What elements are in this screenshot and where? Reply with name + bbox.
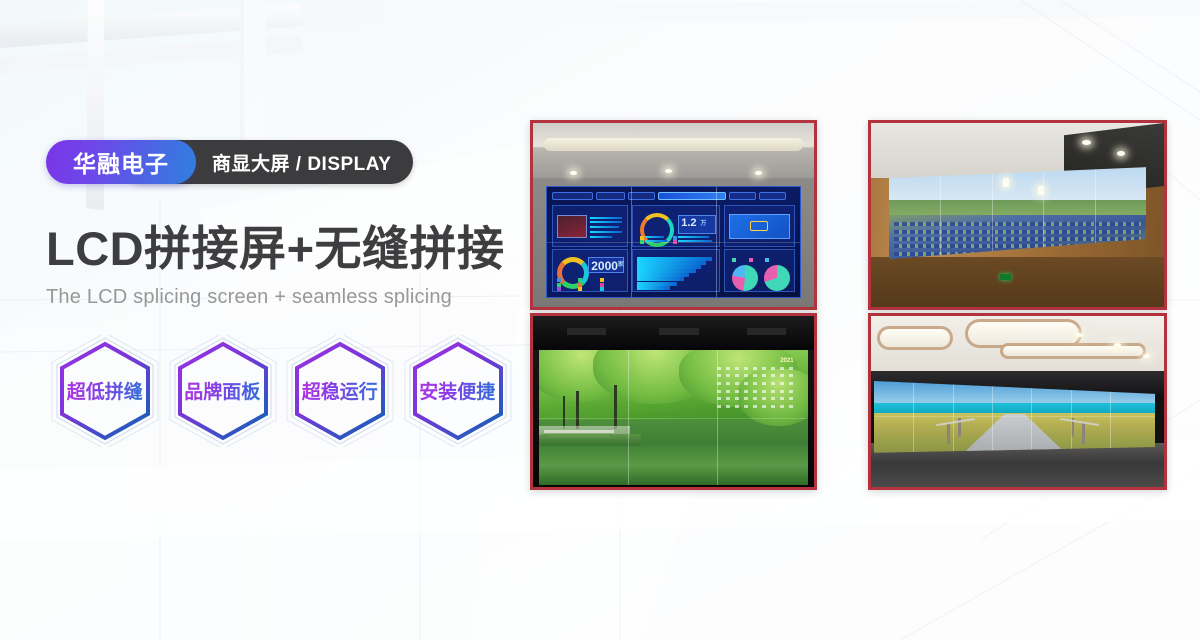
- feature-hex-1: 超低拼缝: [46, 335, 164, 447]
- feature-hex-2: 品牌面板: [164, 335, 282, 447]
- wall-sconce: [1003, 178, 1009, 187]
- room-ceiling: [533, 123, 814, 178]
- dashboard-count-unit: 家: [618, 259, 624, 268]
- feature-hex-2-label: 品牌面板: [184, 377, 260, 404]
- feature-hex-4-label: 安装便捷: [419, 377, 495, 404]
- ceiling-cove-light: [1000, 343, 1147, 358]
- dashboard-tab: [596, 192, 625, 201]
- ceiling-spotlight: [755, 171, 762, 175]
- dashboard-card-barlist: [632, 249, 721, 292]
- dashboard-kpi-value: 1.2: [681, 217, 696, 229]
- hero-text-column: 商显大屏 / DISPLAY 华融电子 LCD拼接屏+无缝拼接 The LCD …: [46, 140, 516, 447]
- ceiling-downlight: [1117, 151, 1125, 156]
- dashboard-topbar: [552, 190, 796, 202]
- dashboard-tab: [552, 192, 593, 201]
- feature-hexagon-row: 超低拼缝 品牌面板: [46, 335, 516, 447]
- dashboard-tab: [729, 192, 756, 201]
- pie-chart-right: [764, 265, 790, 291]
- ceiling-spotlight: [570, 171, 577, 175]
- dashboard-count-value: 2000: [591, 259, 618, 273]
- pie-chart-left: [732, 265, 758, 291]
- hero-subheadline: The LCD splicing screen + seamless splic…: [46, 286, 516, 309]
- feature-hex-1-label: 超低拼缝: [67, 377, 143, 404]
- ceiling-downlight: [1143, 354, 1150, 358]
- dashboard-kpi-unit: 万: [700, 218, 706, 227]
- photo-wood-room-solar-wall[interactable]: [868, 120, 1167, 310]
- feature-hex-3: 超稳运行: [281, 335, 399, 447]
- brand-pill-label: 华融电子: [73, 145, 169, 179]
- photo-control-room-dashboard[interactable]: 1.2 万 2000 家: [530, 120, 817, 310]
- exit-sign-icon: [1000, 274, 1011, 280]
- wall-sconce: [1038, 186, 1044, 195]
- dashboard-screen: 1.2 万 2000 家: [546, 186, 802, 298]
- screen-calendar-overlay: 2021: [717, 358, 798, 412]
- dashboard-card-donut: 2000 家: [552, 249, 628, 292]
- video-wall-screen: 2021: [539, 350, 809, 485]
- feature-hex-3-label: 超稳运行: [302, 377, 378, 404]
- ceiling-cove-light: [877, 326, 953, 350]
- dashboard-tab: [628, 192, 655, 201]
- lower-wall: [871, 257, 1164, 307]
- brand-pill: 华融电子: [46, 140, 196, 184]
- ceiling-downlight: [1082, 140, 1091, 145]
- ceiling-spotlight: [665, 169, 672, 173]
- dashboard-tab: [759, 192, 786, 201]
- calendar-title: 2021: [780, 358, 793, 364]
- photo-lobby-beach-boardwalk-wall[interactable]: [868, 313, 1167, 490]
- category-pill-label: 商显大屏 / DISPLAY: [212, 149, 391, 176]
- dashboard-card-pies: [724, 249, 795, 292]
- feature-hex-4: 安装便捷: [399, 335, 517, 447]
- brand-pill-group: 商显大屏 / DISPLAY 华融电子: [46, 140, 386, 188]
- ceiling-cove-light: [544, 138, 803, 151]
- photo-willow-lake-wall[interactable]: 2021: [530, 313, 817, 490]
- hero-headline: LCD拼接屏+无缝拼接: [46, 224, 516, 275]
